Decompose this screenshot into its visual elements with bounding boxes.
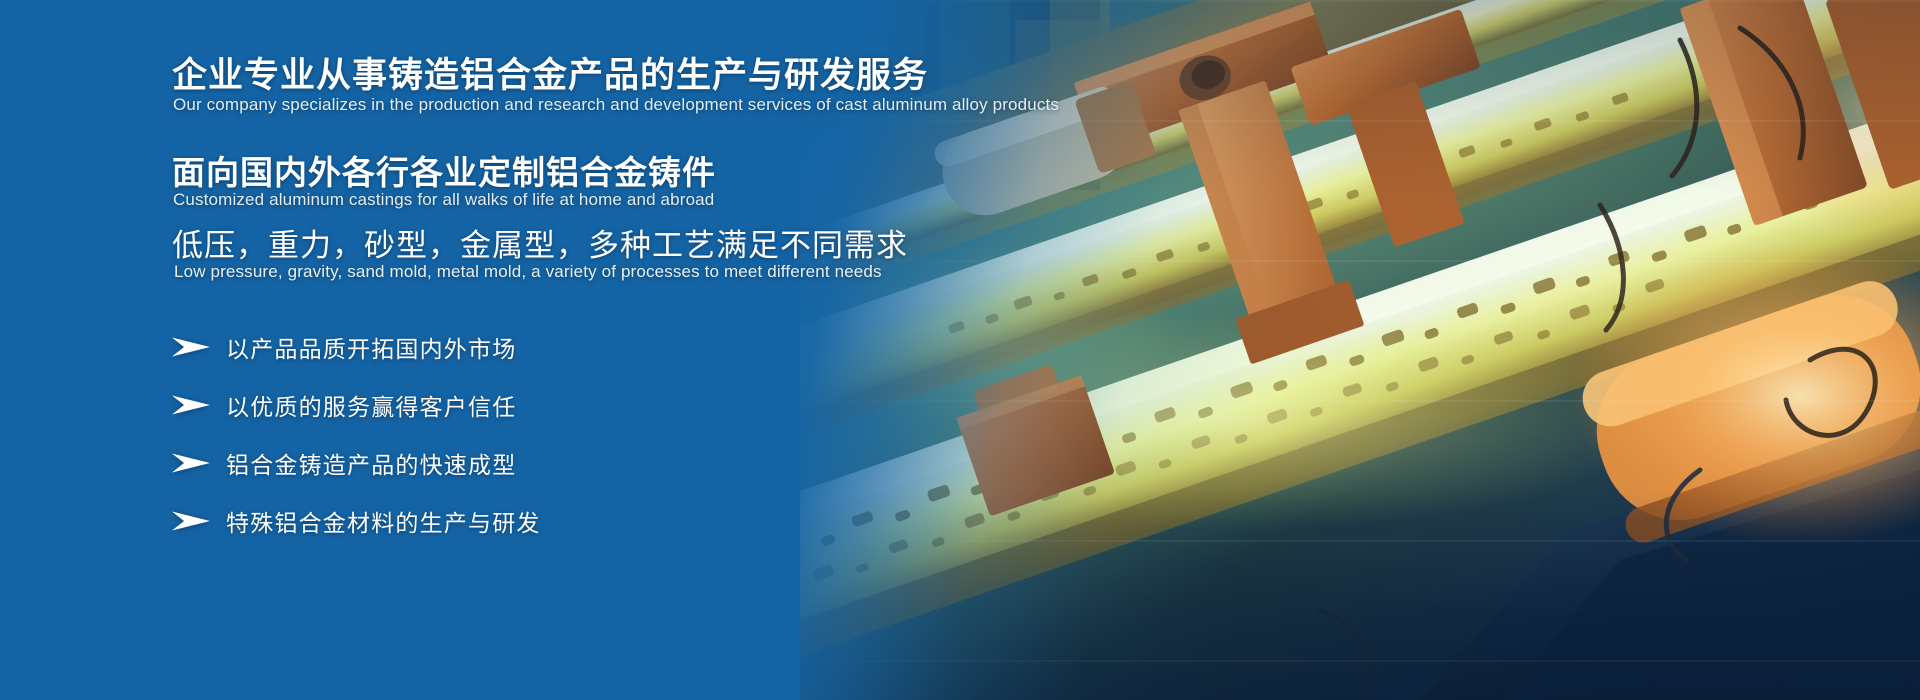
arrow-right-icon [172, 336, 210, 358]
headline-primary-en: Our company specializes in the productio… [173, 95, 1059, 115]
arrow-right-icon [172, 394, 210, 416]
list-item: 特殊铝合金材料的生产与研发 [172, 492, 732, 550]
list-item-label: 以产品品质开拓国内外市场 [226, 330, 516, 364]
feature-list: 以产品品质开拓国内外市场 以优质的服务赢得客户信任 铝合金铸造产品的快速成型 特… [172, 318, 732, 550]
list-item: 铝合金铸造产品的快速成型 [172, 434, 732, 492]
headline-secondary-cn: 面向国内外各行各业定制铝合金铸件 [172, 146, 716, 194]
list-item-label: 特殊铝合金材料的生产与研发 [226, 504, 541, 538]
list-item-label: 以优质的服务赢得客户信任 [226, 388, 516, 422]
arrow-right-icon [172, 510, 210, 532]
hero-banner: 企业专业从事铸造铝合金产品的生产与研发服务 Our company specia… [0, 0, 1920, 700]
list-item: 以优质的服务赢得客户信任 [172, 376, 732, 434]
banner-content: 企业专业从事铸造铝合金产品的生产与研发服务 Our company specia… [172, 0, 1272, 700]
headline-tertiary-cn: 低压，重力，砂型，金属型，多种工艺满足不同需求 [172, 220, 908, 265]
headline-tertiary-en: Low pressure, gravity, sand mold, metal … [174, 262, 882, 282]
list-item-label: 铝合金铸造产品的快速成型 [226, 446, 516, 480]
headline-secondary-en: Customized aluminum castings for all wal… [173, 190, 714, 210]
list-item: 以产品品质开拓国内外市场 [172, 318, 732, 376]
headline-primary-cn: 企业专业从事铸造铝合金产品的生产与研发服务 [172, 47, 928, 98]
arrow-right-icon [172, 452, 210, 474]
